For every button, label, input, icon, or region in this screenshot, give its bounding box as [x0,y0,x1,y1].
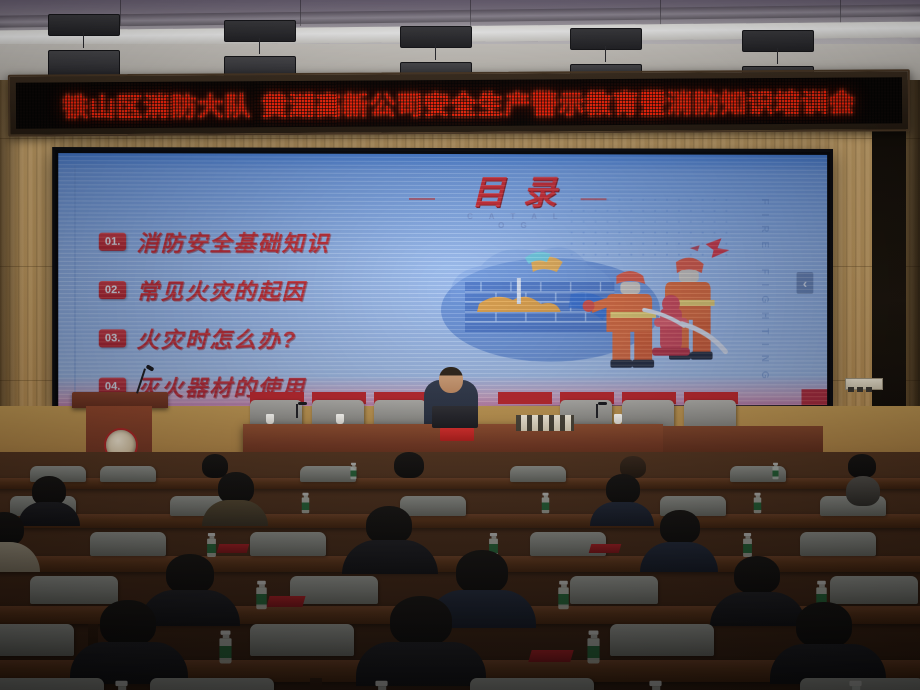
water-bottle [302,493,309,513]
water-bottle [207,533,216,557]
audience-head [390,596,452,646]
stacked-documents [516,415,574,431]
water-bottle [114,681,129,690]
water-bottle [587,631,599,664]
slide-back-button[interactable]: ‹ [797,272,814,294]
laptop[interactable] [432,406,478,428]
speaker-nameplate [440,428,474,441]
audience-head [100,600,156,646]
wall-switch-panel[interactable] [845,378,883,390]
audience-head [606,474,640,504]
water-bottle [256,581,266,610]
toc-number: 02. [99,281,127,299]
led-banner-screen: 铁山区消防大队 黄湖高新公司安全生产警示教育暨消防知识培训会 [16,77,902,128]
toc-label: 常见火灾的起因 [137,274,306,306]
slide-title-cn: 目 录 [456,176,576,210]
led-banner-text: 铁山区消防大队 黄湖高新公司安全生产警示教育暨消防知识培训会 [62,82,855,124]
water-bottle [648,681,663,690]
firefighters-illustration [421,232,749,377]
toc-number: 03. [99,329,127,347]
audience-head [394,452,424,478]
slide-vertical-watermark: FIRE FIGHTING [759,198,770,387]
audience-head [796,602,852,648]
handout-booklet [266,596,305,607]
toc-label: 火灾时怎么办? [137,322,298,354]
audience-head [456,550,508,594]
handout-booklet [217,544,250,553]
water-bottle [743,533,752,557]
slide-corner-accent [801,389,827,405]
audience-head [366,506,412,544]
slide-table-of-contents: 01. 消防安全基础知识 02. 常见火灾的起因 03. 火灾时怎么办? 04.… [99,226,330,407]
conference-hall-photo: 铁山区消防大队 黄湖高新公司安全生产警示教育暨消防知识培训会 目 录 C A T… [0,0,920,690]
audience-head [166,554,214,594]
water-bottle [772,463,778,480]
toc-item: 03. 火灾时怎么办? [99,322,330,354]
led-banner: 铁山区消防大队 黄湖高新公司安全生产警示教育暨消防知识培训会 [8,69,910,137]
water-bottle [219,631,231,664]
water-bottle [754,493,761,513]
speaker-head [439,367,463,393]
slide-title-en: C A T A L O G [456,212,576,230]
audience-head [848,454,876,478]
toc-item: 02. 常见火灾的起因 [99,274,330,306]
handout-booklet [589,544,622,553]
toc-number: 01. [99,233,127,251]
water-bottle [848,681,863,690]
audience-head [846,476,880,506]
water-bottle [374,681,389,690]
audience-head [734,556,780,594]
water-bottle [542,493,549,513]
water-bottle [558,581,568,610]
audience-seating [0,452,920,690]
slide-title-block: 目 录 C A T A L O G [456,176,576,230]
handout-booklet [528,650,573,662]
audience-head [660,510,700,544]
water-bottle [350,463,356,480]
toc-label: 消防安全基础知识 [137,226,331,258]
toc-item: 01. 消防安全基础知识 [99,226,330,258]
